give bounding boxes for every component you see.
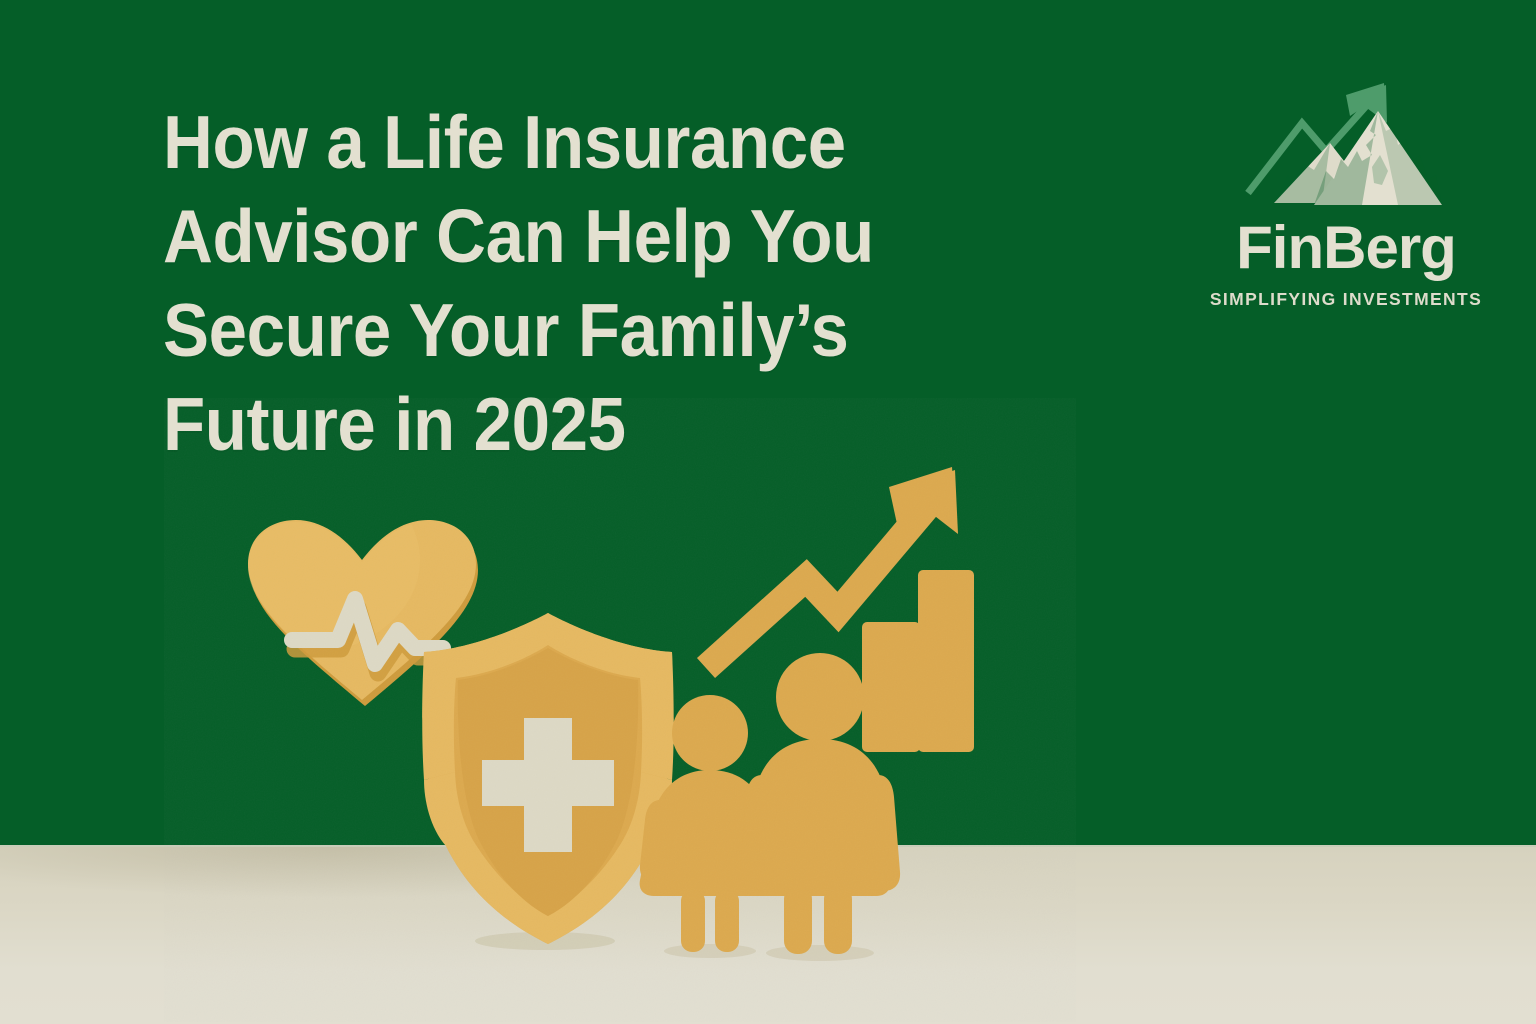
brand-logo[interactable]: FinBerg SIMPLIFYING INVESTMENTS — [1196, 75, 1496, 310]
heart-pulse-icon — [180, 465, 478, 706]
blog-banner: How a Life Insurance Advisor Can Help Yo… — [0, 0, 1536, 1024]
mountain-growth-arrow-icon — [1226, 75, 1466, 215]
ground-shadow-wash — [0, 847, 1080, 925]
brand-name: FinBerg — [1196, 217, 1496, 279]
growth-arrow-icon — [700, 467, 958, 668]
page-title: How a Life Insurance Advisor Can Help Yo… — [163, 95, 991, 471]
brand-tagline: SIMPLIFYING INVESTMENTS — [1196, 289, 1496, 310]
bar-chart-icon — [862, 570, 974, 752]
